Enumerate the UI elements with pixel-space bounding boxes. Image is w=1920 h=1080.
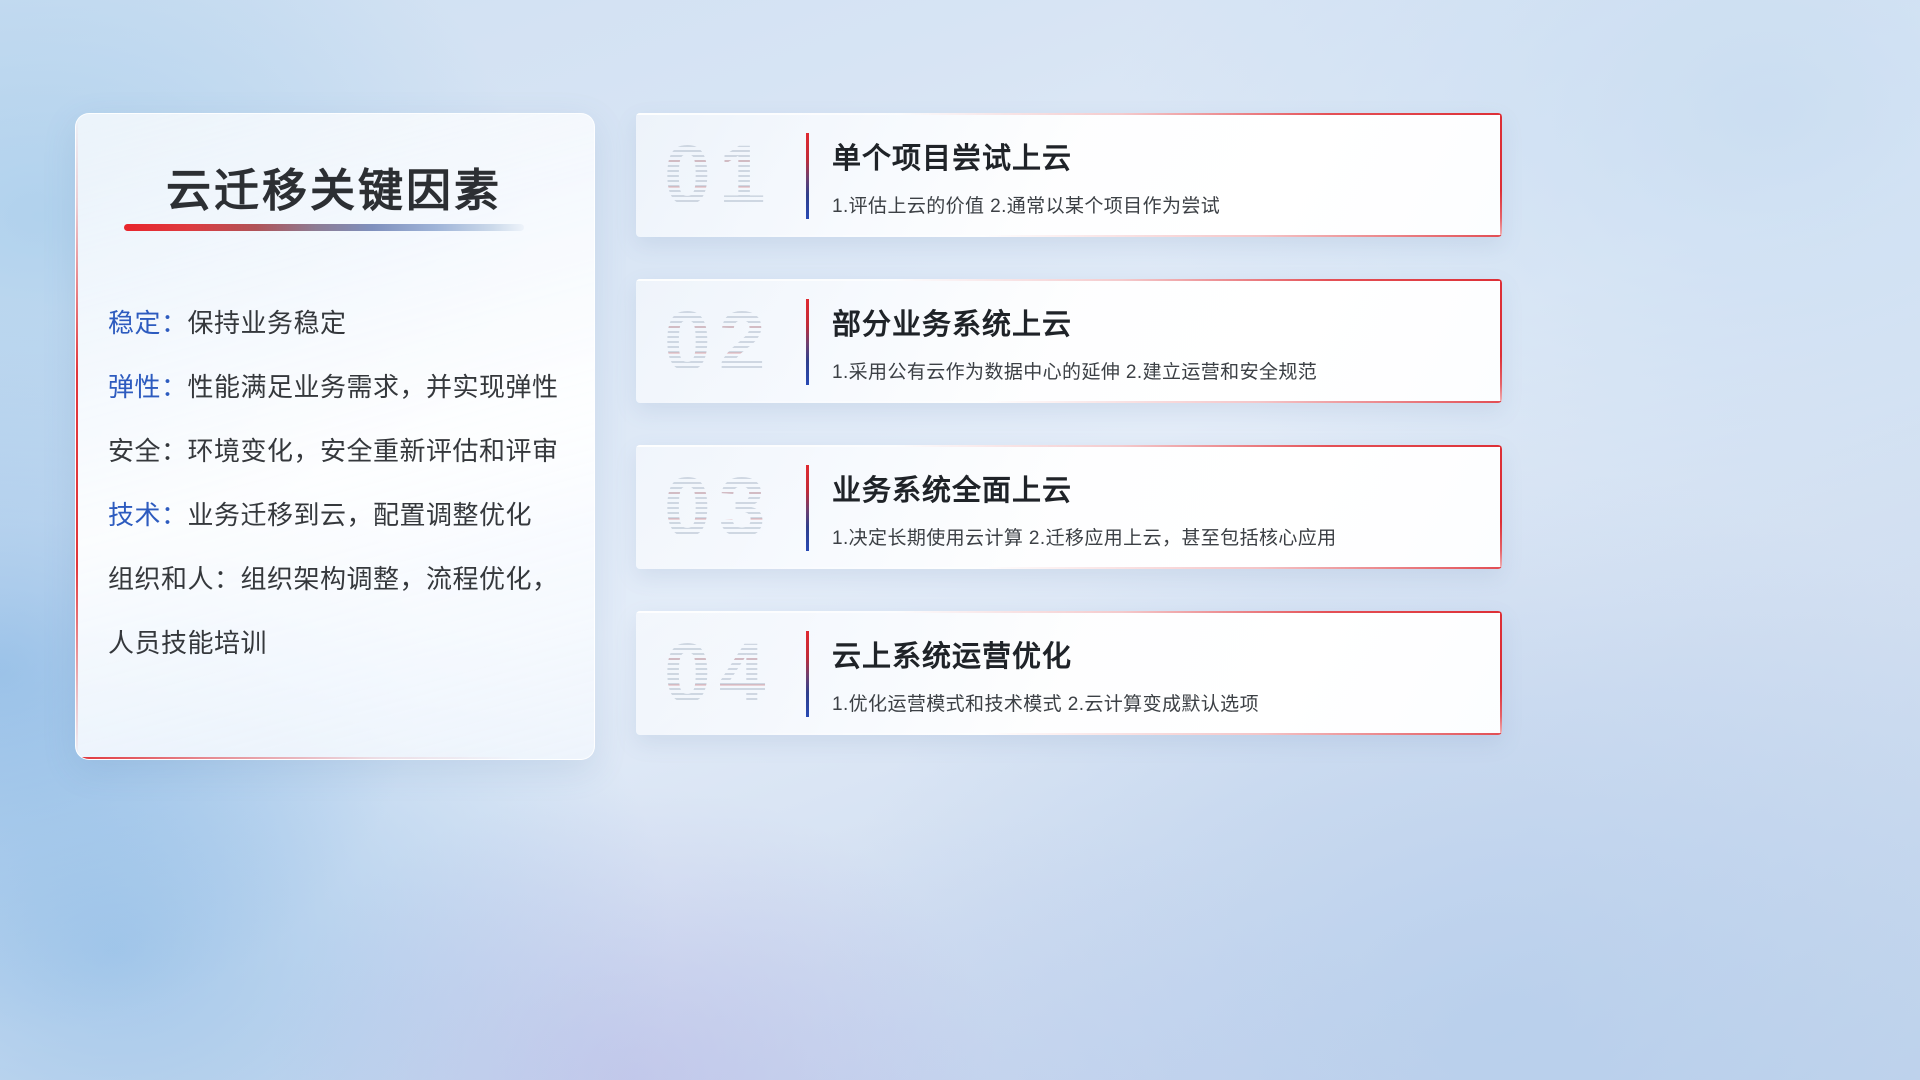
card-description: 1.采用公有云作为数据中心的延伸 2.建立运营和安全规范 (832, 357, 1317, 384)
key-factors-panel: 云迁移关键因素 稳定：保持业务稳定 弹性：性能满足业务需求，并实现弹性 安全：环… (75, 113, 595, 760)
card-right-accent (1500, 611, 1502, 735)
stage-card[interactable]: 04 04 云上系统运营优化 1.优化运营模式和技术模式 2.云计算变成默认选项 (636, 611, 1502, 735)
stage-card[interactable]: 02 02 部分业务系统上云 1.采用公有云作为数据中心的延伸 2.建立运营和安… (636, 279, 1502, 403)
list-item-value: 保持业务稳定 (188, 308, 347, 338)
card-description: 1.评估上云的价值 2.通常以某个项目作为尝试 (832, 191, 1220, 218)
key-factors-list: 稳定：保持业务稳定 弹性：性能满足业务需求，并实现弹性 安全：环境变化，安全重新… (108, 310, 568, 656)
list-item-key: 安全： (108, 436, 188, 466)
card-divider-bar (806, 631, 809, 717)
list-item-value: 性能满足业务需求，并实现弹性 (188, 372, 559, 402)
list-item-key: 组织和人： (108, 564, 241, 594)
list-item-key: 稳定： (108, 308, 188, 338)
card-description: 1.决定长期使用云计算 2.迁移应用上云，甚至包括核心应用 (832, 523, 1337, 550)
card-title: 单个项目尝试上云 (832, 135, 1072, 177)
list-item-value: 组织架构调整，流程优化， (241, 564, 559, 594)
card-right-accent (1500, 113, 1502, 237)
list-item: 稳定：保持业务稳定 (108, 310, 568, 336)
card-title: 业务系统全面上云 (832, 467, 1072, 509)
list-item-value: 人员技能培训 (108, 628, 267, 658)
card-bottom-accent (636, 567, 1502, 569)
panel-bottom-accent-bar (76, 757, 594, 759)
card-right-accent (1500, 445, 1502, 569)
card-bottom-accent (636, 235, 1502, 237)
migration-stage-cards: 01 01 单个项目尝试上云 1.评估上云的价值 2.通常以某个项目作为尝试 0… (636, 113, 1502, 735)
card-divider-bar (806, 299, 809, 385)
stage-card[interactable]: 03 03 业务系统全面上云 1.决定长期使用云计算 2.迁移应用上云，甚至包括… (636, 445, 1502, 569)
card-title: 云上系统运营优化 (832, 633, 1072, 675)
stage-card[interactable]: 01 01 单个项目尝试上云 1.评估上云的价值 2.通常以某个项目作为尝试 (636, 113, 1502, 237)
list-item: 弹性：性能满足业务需求，并实现弹性 (108, 374, 568, 400)
list-item: 安全：环境变化，安全重新评估和评审 (108, 438, 568, 464)
card-top-accent (636, 611, 1502, 613)
card-description: 1.优化运营模式和技术模式 2.云计算变成默认选项 (832, 689, 1259, 716)
card-top-accent (636, 279, 1502, 281)
card-bottom-accent (636, 401, 1502, 403)
page-title: 云迁移关键因素 (166, 154, 502, 219)
card-divider-bar (806, 465, 809, 551)
panel-left-accent-bar (76, 114, 78, 759)
list-item: 技术：业务迁移到云，配置调整优化 (108, 502, 568, 528)
card-bottom-accent (636, 733, 1502, 735)
title-underline-gradient (124, 224, 524, 231)
list-item-key: 弹性： (108, 372, 188, 402)
card-title: 部分业务系统上云 (832, 301, 1072, 343)
card-divider-bar (806, 133, 809, 219)
card-top-accent (636, 445, 1502, 447)
list-item-key: 技术： (108, 500, 188, 530)
list-item: 组织和人：组织架构调整，流程优化， (108, 566, 568, 592)
card-top-accent (636, 113, 1502, 115)
card-right-accent (1500, 279, 1502, 403)
list-item-value: 业务迁移到云，配置调整优化 (188, 500, 533, 530)
list-item-continuation: 人员技能培训 (108, 630, 568, 656)
list-item-value: 环境变化，安全重新评估和评审 (188, 436, 559, 466)
